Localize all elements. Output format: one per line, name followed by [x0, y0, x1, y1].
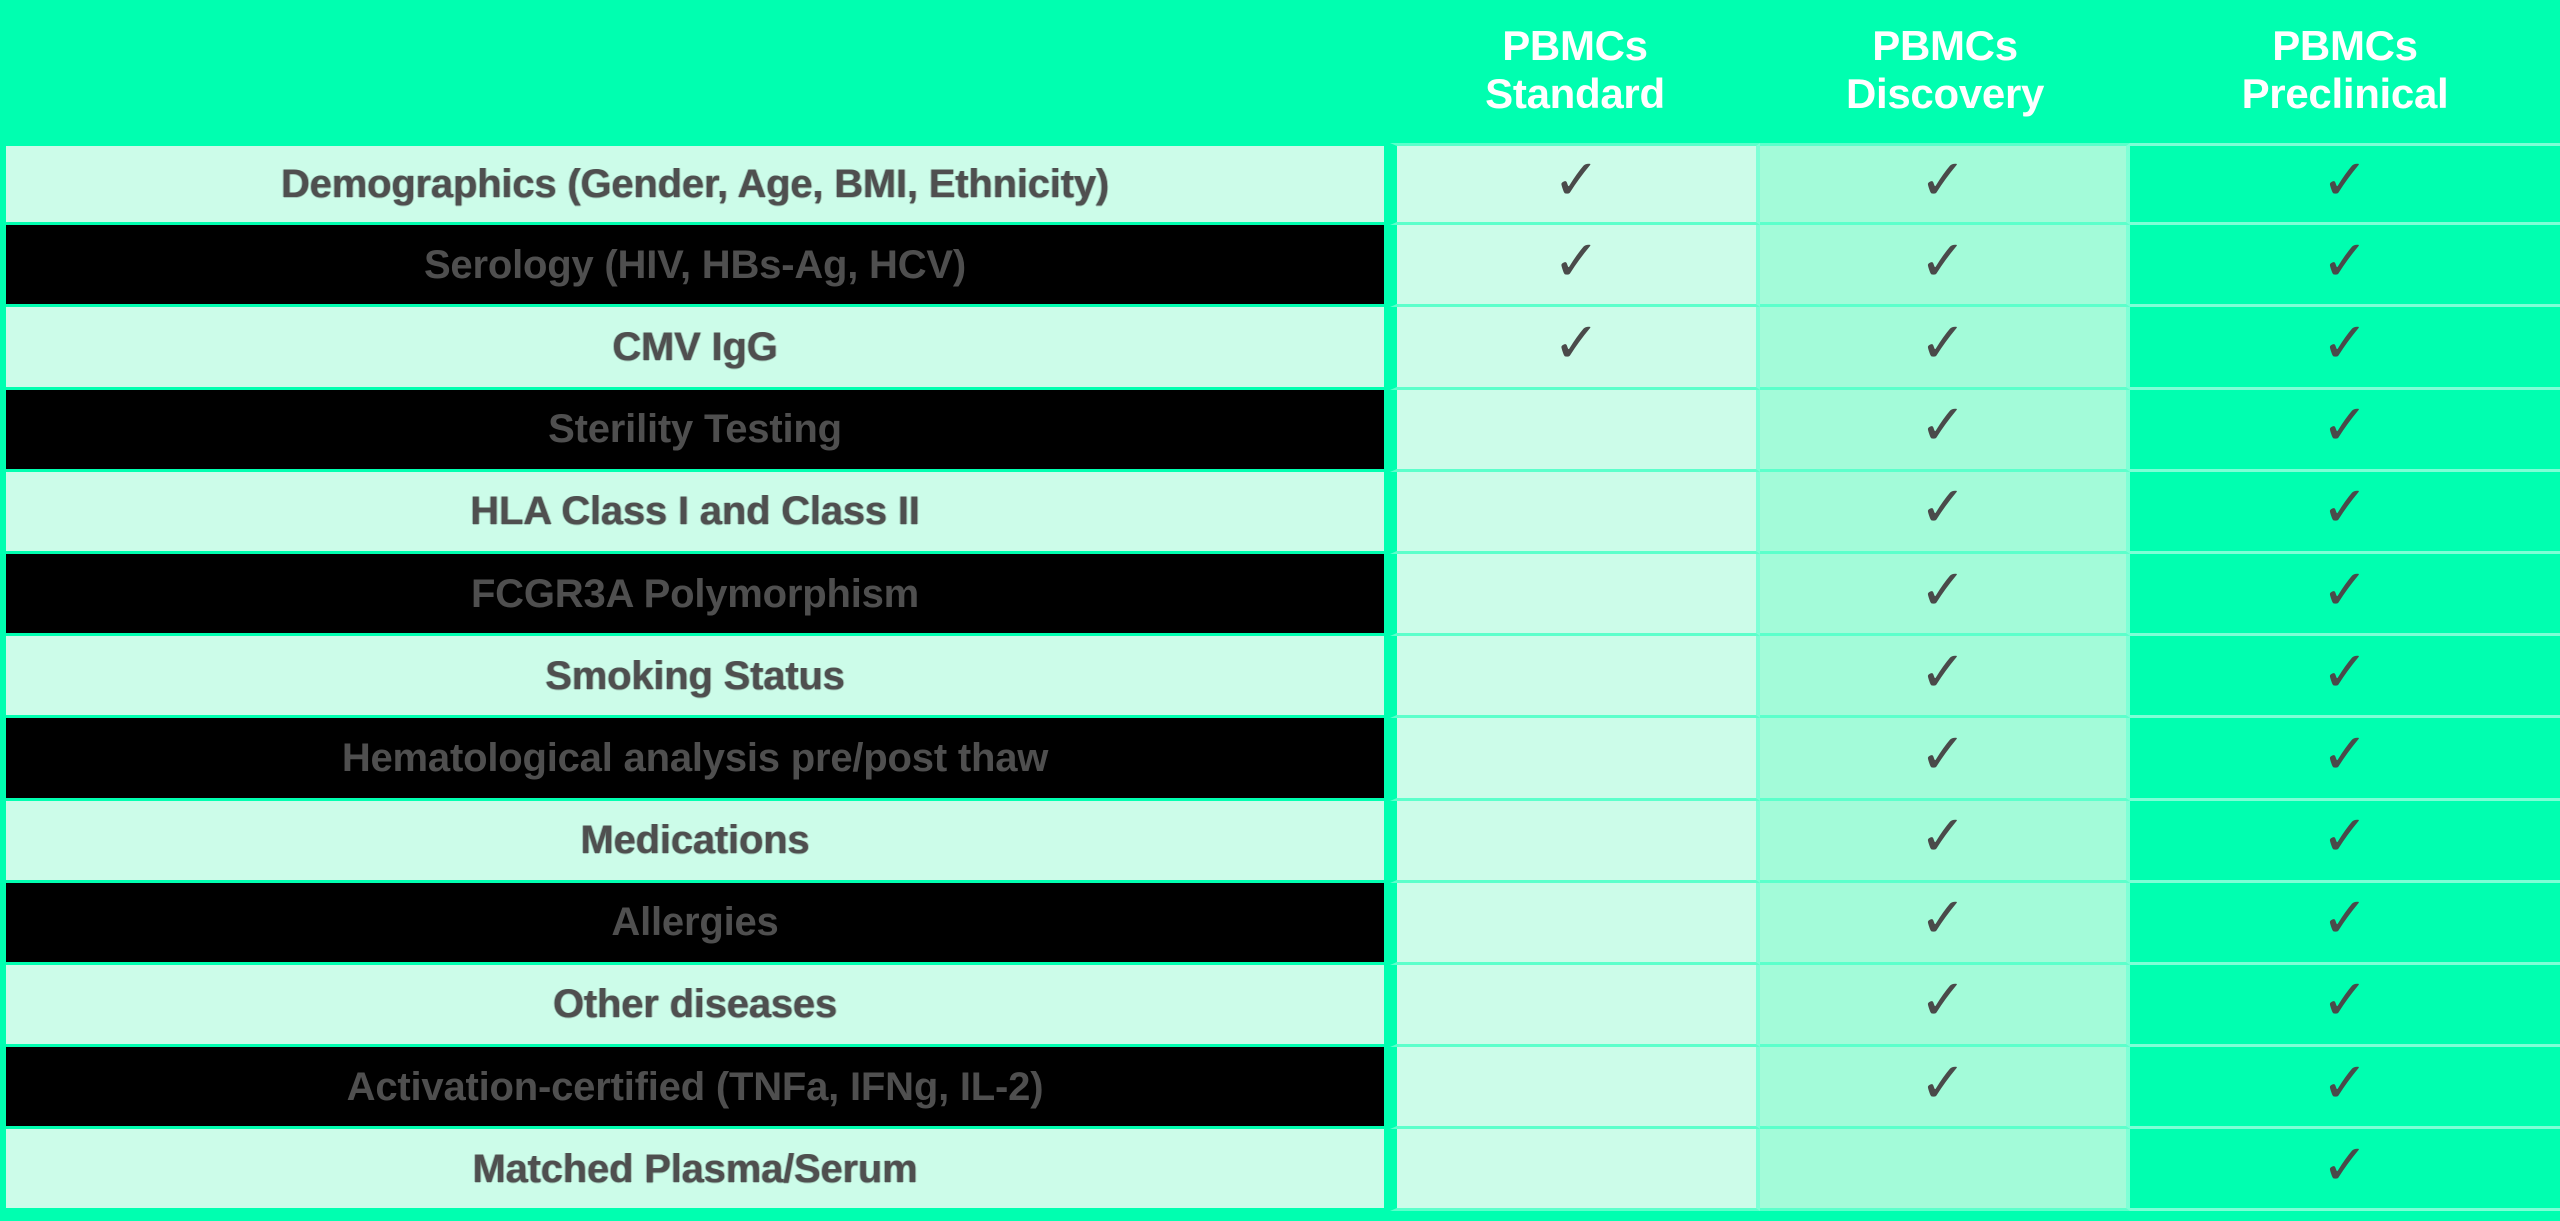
cell-preclinical: ✓ — [2130, 965, 2560, 1047]
row-label-text: Allergies — [611, 902, 778, 942]
cell-standard — [1390, 472, 1760, 554]
row-label-text: Medications — [581, 820, 810, 860]
cell-standard — [1390, 718, 1760, 800]
check-icon: ✓ — [2322, 809, 2369, 865]
cell-standard — [1390, 636, 1760, 718]
table-header-row: PBMCs Standard PBMCs Discovery PBMCs Pre… — [0, 0, 2560, 143]
column-header-standard-line2: Standard — [1485, 70, 1665, 117]
row-label-cell: Other diseases — [0, 965, 1390, 1047]
check-icon: ✓ — [1553, 153, 1600, 209]
row-label-cell: Medications — [0, 801, 1390, 883]
check-icon: ✓ — [2322, 973, 2369, 1029]
check-icon: ✓ — [1920, 563, 1967, 619]
check-icon: ✓ — [1920, 727, 1967, 783]
check-icon: ✓ — [1920, 645, 1967, 701]
check-icon: ✓ — [2322, 316, 2369, 372]
cell-discovery: ✓ — [1760, 554, 2130, 636]
header-label-spacer — [0, 0, 1390, 143]
row-label-text: Smoking Status — [545, 656, 844, 696]
cell-preclinical: ✓ — [2130, 636, 2560, 718]
row-label-text: Sterility Testing — [548, 409, 842, 449]
check-icon: ✓ — [2322, 1138, 2369, 1194]
cell-preclinical: ✓ — [2130, 143, 2560, 225]
column-header-discovery-line1: PBMCs — [1846, 22, 2044, 69]
row-label-cell: Allergies — [0, 883, 1390, 965]
cell-preclinical: ✓ — [2130, 801, 2560, 883]
column-header-standard: PBMCs Standard — [1390, 0, 1760, 143]
comparison-table: PBMCs Standard PBMCs Discovery PBMCs Pre… — [0, 0, 2560, 1221]
row-label-cell: Demographics (Gender, Age, BMI, Ethnicit… — [0, 143, 1390, 225]
cell-preclinical: ✓ — [2130, 390, 2560, 472]
row-label-text: Demographics (Gender, Age, BMI, Ethnicit… — [281, 164, 1109, 204]
cell-preclinical: ✓ — [2130, 718, 2560, 800]
row-label-text: Matched Plasma/Serum — [472, 1149, 917, 1189]
check-icon: ✓ — [1920, 153, 1967, 209]
cell-discovery: ✓ — [1760, 307, 2130, 389]
row-label-cell: CMV IgG — [0, 307, 1390, 389]
cell-standard — [1390, 1047, 1760, 1129]
check-icon: ✓ — [1920, 398, 1967, 454]
cell-discovery: ✓ — [1760, 718, 2130, 800]
cell-preclinical: ✓ — [2130, 307, 2560, 389]
table-row: Other diseases✓✓ — [0, 965, 2560, 1047]
cell-discovery: ✓ — [1760, 472, 2130, 554]
row-label-text: Serology (HIV, HBs-Ag, HCV) — [424, 245, 966, 285]
table-row: Allergies✓✓ — [0, 883, 2560, 965]
column-header-preclinical-line2: Preclinical — [2242, 70, 2449, 117]
table-row: HLA Class I and Class II✓✓ — [0, 472, 2560, 554]
row-label-text: Other diseases — [553, 984, 837, 1024]
column-header-preclinical-line1: PBMCs — [2242, 22, 2449, 69]
table-row: Hematological analysis pre/post thaw✓✓ — [0, 718, 2560, 800]
cell-preclinical: ✓ — [2130, 1047, 2560, 1129]
row-label-cell: Smoking Status — [0, 636, 1390, 718]
table-row: Demographics (Gender, Age, BMI, Ethnicit… — [0, 143, 2560, 225]
check-icon: ✓ — [2322, 563, 2369, 619]
check-icon: ✓ — [1920, 891, 1967, 947]
table-row: FCGR3A Polymorphism✓✓ — [0, 554, 2560, 636]
row-label-cell: HLA Class I and Class II — [0, 472, 1390, 554]
check-icon: ✓ — [2322, 480, 2369, 536]
table-row: CMV IgG✓✓✓ — [0, 307, 2560, 389]
check-icon: ✓ — [2322, 645, 2369, 701]
cell-discovery: ✓ — [1760, 883, 2130, 965]
column-header-standard-line1: PBMCs — [1485, 22, 1665, 69]
table-row: Sterility Testing✓✓ — [0, 390, 2560, 472]
table-row: Smoking Status✓✓ — [0, 636, 2560, 718]
check-icon: ✓ — [1553, 234, 1600, 290]
cell-discovery: ✓ — [1760, 965, 2130, 1047]
check-icon: ✓ — [1920, 234, 1967, 290]
check-icon: ✓ — [2322, 398, 2369, 454]
cell-preclinical: ✓ — [2130, 472, 2560, 554]
table-row: Serology (HIV, HBs-Ag, HCV)✓✓✓ — [0, 225, 2560, 307]
cell-discovery: ✓ — [1760, 801, 2130, 883]
table-row: Activation-certified (TNFa, IFNg, IL-2)✓… — [0, 1047, 2560, 1129]
check-icon: ✓ — [1920, 316, 1967, 372]
table-row: Medications✓✓ — [0, 801, 2560, 883]
cell-discovery — [1760, 1129, 2130, 1211]
row-label-text: CMV IgG — [612, 327, 777, 367]
row-label-cell: Sterility Testing — [0, 390, 1390, 472]
check-icon: ✓ — [2322, 1056, 2369, 1112]
check-icon: ✓ — [1920, 480, 1967, 536]
row-label-cell: FCGR3A Polymorphism — [0, 554, 1390, 636]
column-header-discovery: PBMCs Discovery — [1760, 0, 2130, 143]
cell-standard — [1390, 883, 1760, 965]
row-label-text: Hematological analysis pre/post thaw — [342, 738, 1048, 778]
cell-discovery: ✓ — [1760, 636, 2130, 718]
cell-preclinical: ✓ — [2130, 554, 2560, 636]
check-icon: ✓ — [2322, 153, 2369, 209]
column-header-discovery-line2: Discovery — [1846, 70, 2044, 117]
check-icon: ✓ — [2322, 234, 2369, 290]
row-label-cell: Matched Plasma/Serum — [0, 1129, 1390, 1211]
cell-standard: ✓ — [1390, 143, 1760, 225]
table-row: Matched Plasma/Serum✓ — [0, 1129, 2560, 1211]
cell-discovery: ✓ — [1760, 1047, 2130, 1129]
check-icon: ✓ — [1920, 809, 1967, 865]
row-label-text: FCGR3A Polymorphism — [471, 574, 919, 614]
cell-preclinical: ✓ — [2130, 225, 2560, 307]
check-icon: ✓ — [2322, 891, 2369, 947]
cell-standard — [1390, 801, 1760, 883]
column-header-preclinical: PBMCs Preclinical — [2130, 0, 2560, 143]
row-label-text: Activation-certified (TNFa, IFNg, IL-2) — [347, 1067, 1044, 1107]
cell-discovery: ✓ — [1760, 143, 2130, 225]
table-body: Demographics (Gender, Age, BMI, Ethnicit… — [0, 143, 2560, 1221]
row-label-cell: Activation-certified (TNFa, IFNg, IL-2) — [0, 1047, 1390, 1129]
cell-discovery: ✓ — [1760, 225, 2130, 307]
row-label-text: HLA Class I and Class II — [470, 491, 919, 531]
check-icon: ✓ — [1920, 1056, 1967, 1112]
cell-standard — [1390, 1129, 1760, 1211]
row-label-cell: Hematological analysis pre/post thaw — [0, 718, 1390, 800]
row-label-cell: Serology (HIV, HBs-Ag, HCV) — [0, 225, 1390, 307]
cell-preclinical: ✓ — [2130, 883, 2560, 965]
cell-standard: ✓ — [1390, 225, 1760, 307]
check-icon: ✓ — [1920, 973, 1967, 1029]
cell-discovery: ✓ — [1760, 390, 2130, 472]
cell-standard — [1390, 554, 1760, 636]
cell-standard — [1390, 965, 1760, 1047]
cell-preclinical: ✓ — [2130, 1129, 2560, 1211]
cell-standard — [1390, 390, 1760, 472]
check-icon: ✓ — [2322, 727, 2369, 783]
cell-standard: ✓ — [1390, 307, 1760, 389]
check-icon: ✓ — [1553, 316, 1600, 372]
